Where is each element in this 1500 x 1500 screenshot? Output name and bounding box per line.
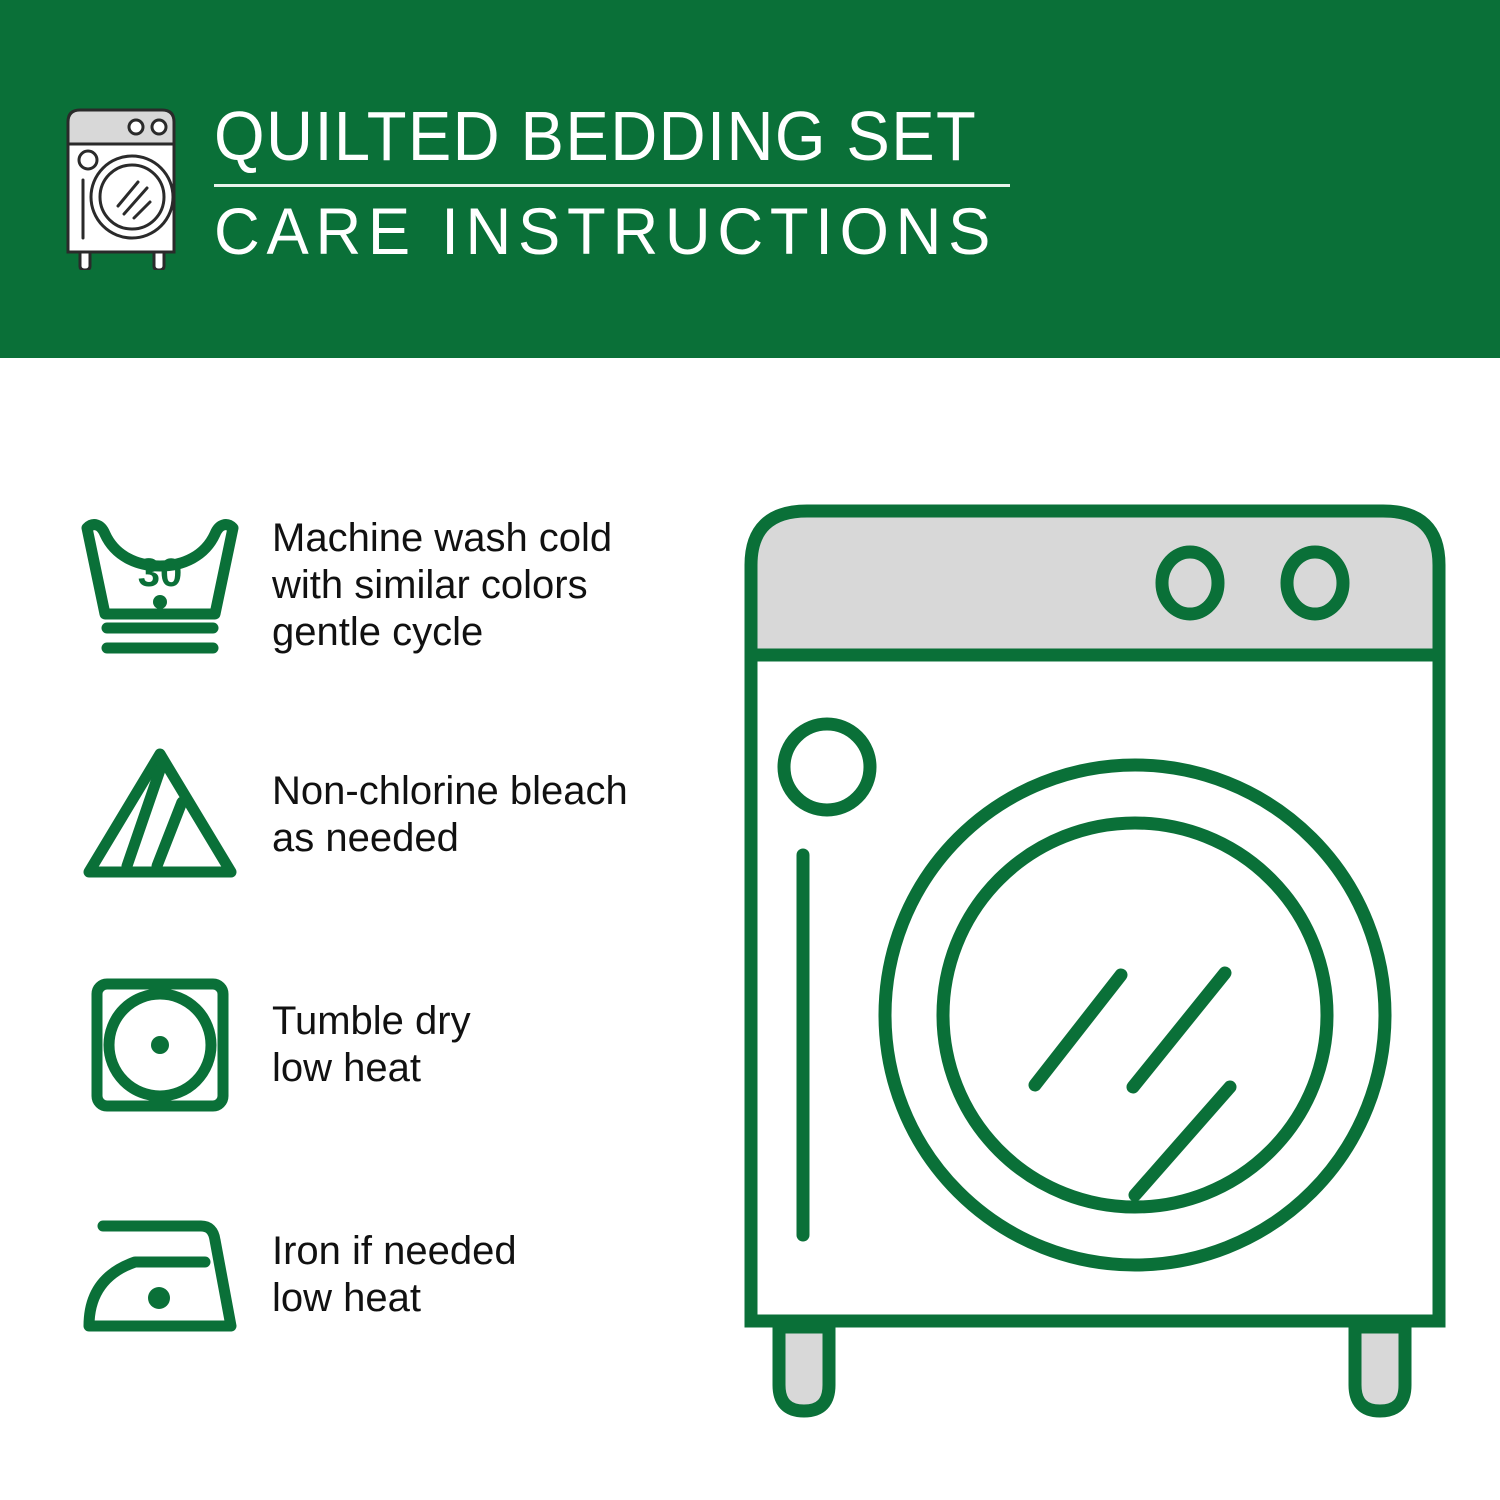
care-instruction-text: Tumble dry low heat: [272, 998, 740, 1092]
wash-temperature-label: 30: [138, 551, 183, 595]
care-instruction-row: Tumble dry low heat: [0, 930, 740, 1160]
title-divider: [214, 184, 1010, 187]
tumble-dry-low-icon: [85, 970, 235, 1120]
wash-tub-30-gentle-icon: 30: [75, 510, 245, 660]
care-instruction-text: Non-chlorine bleach as needed: [272, 768, 740, 862]
care-symbol-wrapper: [60, 1210, 260, 1340]
care-instruction-row: Iron if needed low heat: [0, 1160, 740, 1390]
care-instruction-list: 30 Machine wash cold with similar colors…: [0, 470, 740, 1390]
page-subtitle: CARE INSTRUCTIONS: [214, 195, 1022, 267]
header-band: QUILTED BEDDING SET CARE INSTRUCTIONS: [0, 0, 1500, 358]
iron-low-heat-icon: [73, 1210, 248, 1340]
care-symbol-wrapper: [60, 970, 260, 1120]
care-instruction-text: Iron if needed low heat: [272, 1228, 740, 1322]
care-instruction-text: Machine wash cold with similar colors ge…: [272, 515, 740, 656]
non-chlorine-bleach-triangle-icon: [75, 740, 245, 890]
care-symbol-wrapper: [60, 740, 260, 890]
front-load-washing-machine-illustration: [735, 495, 1455, 1425]
care-symbol-wrapper: 30: [60, 510, 260, 660]
washing-machine-icon: [56, 102, 192, 270]
page-title: QUILTED BEDDING SET: [214, 98, 997, 174]
care-instruction-row: Non-chlorine bleach as needed: [0, 700, 740, 930]
header-content: QUILTED BEDDING SET CARE INSTRUCTIONS: [56, 96, 1056, 276]
header-title-group: QUILTED BEDDING SET CARE INSTRUCTIONS: [214, 96, 1056, 267]
care-instruction-row: 30 Machine wash cold with similar colors…: [0, 470, 740, 700]
